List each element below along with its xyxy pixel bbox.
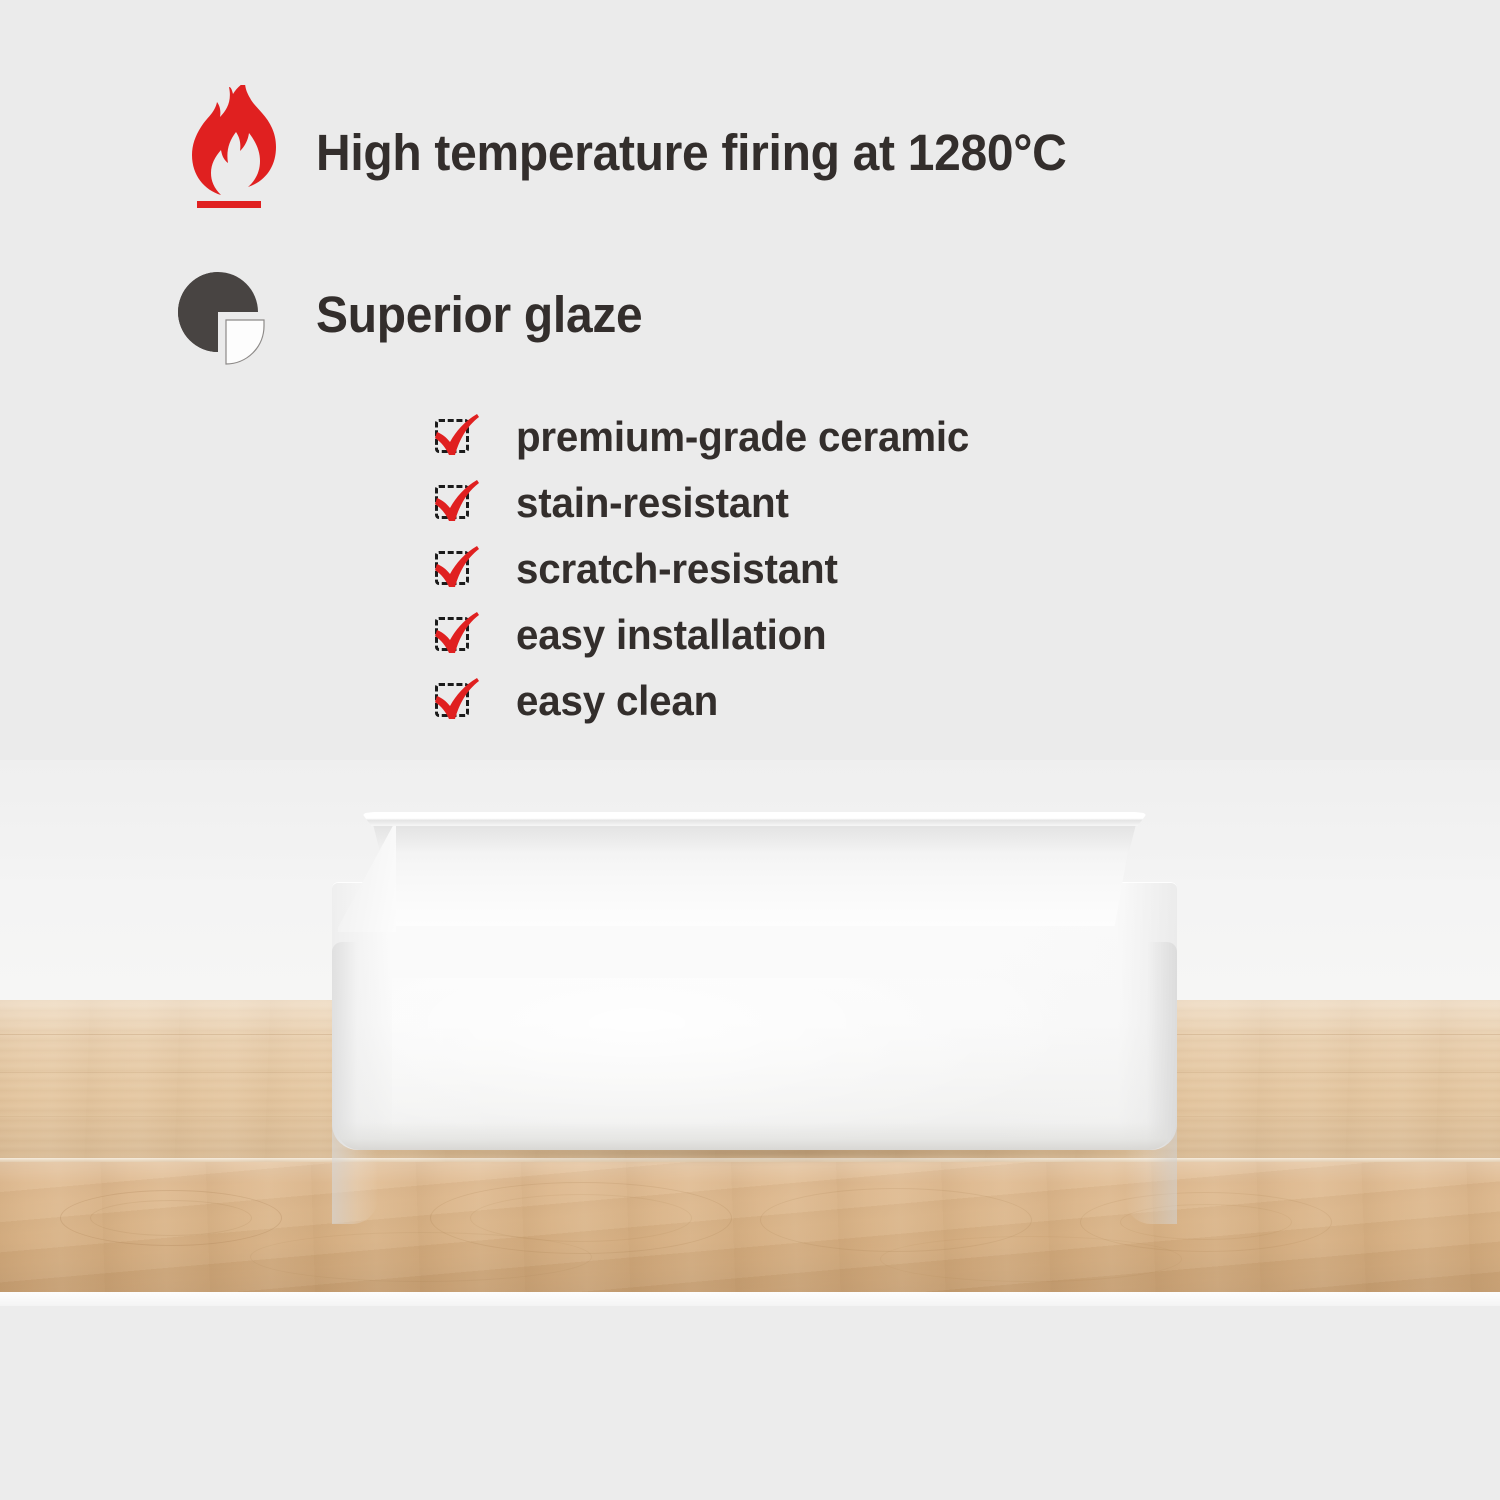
list-item: easy clean [433,668,988,734]
checkbox-checked-icon [433,546,479,592]
countertop-front-edge [0,1162,1500,1292]
glaze-pie-icon [170,262,288,367]
list-item: premium-grade ceramic [433,404,988,470]
flame-icon [170,82,288,222]
sink-base-shading [336,1122,1173,1150]
product-photo [0,760,1500,1500]
product-infographic: High temperature firing at 1280°C Superi… [0,0,1500,1500]
sink-left-corner-shading [332,942,378,1224]
lower-background [0,1306,1500,1500]
feature-title: High temperature firing at 1280°C [316,127,1066,178]
sink-basin-back-wall [372,820,1137,866]
sink-right-corner-shading [1125,942,1177,1224]
list-item: easy installation [433,602,988,668]
ceramic-vessel-sink [332,808,1177,1162]
sink-basin-left-wall [338,820,396,932]
list-item: scratch-resistant [433,536,988,602]
list-item: stain-resistant [433,470,988,536]
list-item-label: premium-grade ceramic [516,416,969,458]
checkbox-checked-icon [433,612,479,658]
checkbox-checked-icon [433,480,479,526]
list-item-label: scratch-resistant [516,548,838,590]
checkbox-checked-icon [433,414,479,460]
sink-rim-highlight [366,814,1143,817]
feature-superior-glaze: Superior glaze [170,262,663,367]
feature-checklist: premium-grade ceramic stain-resistant sc… [433,404,988,734]
list-item-label: stain-resistant [516,482,789,524]
feature-high-temperature: High temperature firing at 1280°C [170,82,1114,222]
feature-title: Superior glaze [316,289,642,340]
list-item-label: easy clean [516,680,718,722]
checkbox-checked-icon [433,678,479,724]
list-item-label: easy installation [516,614,826,656]
